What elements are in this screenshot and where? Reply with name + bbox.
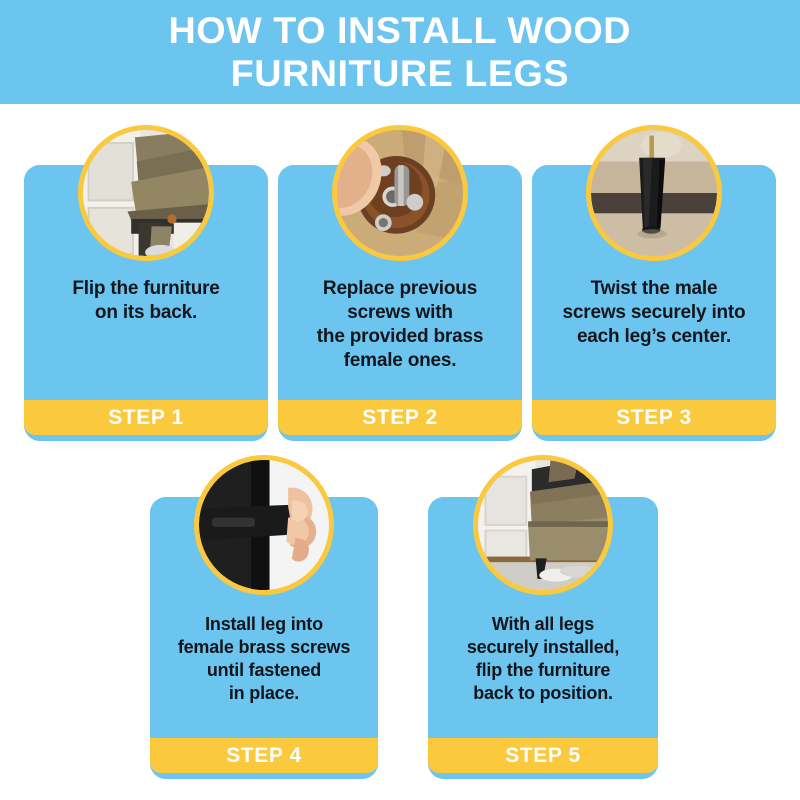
step-badge: STEP 5: [428, 738, 658, 773]
caption-line: securely installed,: [436, 636, 650, 659]
caption-line: each leg’s center.: [540, 325, 768, 349]
photo-artwork: [337, 130, 463, 256]
photo-sofa-upright-on-new-legs: [473, 455, 613, 595]
step-card-5[interactable]: With all legs securely installed, flip t…: [428, 497, 658, 779]
card-caption: Twist the male screws securely into each…: [540, 277, 768, 349]
step-badge: STEP 1: [24, 400, 268, 435]
step-label: STEP 3: [616, 407, 692, 428]
card-caption: Flip the furniture on its back.: [32, 277, 260, 325]
photo-image: [83, 130, 209, 256]
caption-line: Replace previous: [286, 277, 514, 301]
card-caption: Replace previous screws with the provide…: [286, 277, 514, 373]
caption-line: Install leg into: [158, 613, 370, 636]
photo-flipped-sofa-on-back: [78, 125, 214, 261]
photo-image: [337, 130, 463, 256]
step-label: STEP 2: [362, 407, 438, 428]
photo-hand-installing-brass-screw: [332, 125, 468, 261]
caption-line: female ones.: [286, 349, 514, 373]
card-caption: Install leg into female brass screws unt…: [158, 613, 370, 705]
caption-line: With all legs: [436, 613, 650, 636]
photo-image: [199, 460, 329, 590]
photo-black-tapered-leg-with-screw: [586, 125, 722, 261]
caption-line: Twist the male: [540, 277, 768, 301]
step-label: STEP 1: [108, 407, 184, 428]
photo-artwork: [83, 130, 209, 256]
photo-image: [478, 460, 608, 590]
caption-line: until fastened: [158, 659, 370, 682]
step-badge: STEP 4: [150, 738, 378, 773]
step-card-3[interactable]: Twist the male screws securely into each…: [532, 165, 776, 441]
step-label: STEP 5: [505, 745, 581, 766]
photo-image: [591, 130, 717, 256]
card-caption: With all legs securely installed, flip t…: [436, 613, 650, 705]
photo-artwork: [199, 460, 329, 590]
caption-line: female brass screws: [158, 636, 370, 659]
photo-hand-threading-leg-into-frame: [194, 455, 334, 595]
header-banner: HOW TO INSTALL WOOD FURNITURE LEGS: [0, 0, 800, 104]
caption-line: back to position.: [436, 682, 650, 705]
step-badge: STEP 2: [278, 400, 522, 435]
photo-artwork: [478, 460, 608, 590]
step-card-2[interactable]: Replace previous screws with the provide…: [278, 165, 522, 441]
caption-line: screws securely into: [540, 301, 768, 325]
step-label: STEP 4: [226, 745, 302, 766]
caption-line: on its back.: [32, 301, 260, 325]
caption-line: in place.: [158, 682, 370, 705]
step-card-1[interactable]: Flip the furniture on its back. STEP 1: [24, 165, 268, 441]
infographic-page: HOW TO INSTALL WOOD FURNITURE LEGS: [0, 0, 800, 800]
photo-artwork: [591, 130, 717, 256]
step-card-4[interactable]: Install leg into female brass screws unt…: [150, 497, 378, 779]
caption-line: flip the furniture: [436, 659, 650, 682]
page-title-line-1: HOW TO INSTALL WOOD: [169, 9, 632, 52]
step-badge: STEP 3: [532, 400, 776, 435]
caption-line: the provided brass: [286, 325, 514, 349]
page-title-line-2: FURNITURE LEGS: [231, 52, 569, 95]
caption-line: screws with: [286, 301, 514, 325]
caption-line: Flip the furniture: [32, 277, 260, 301]
